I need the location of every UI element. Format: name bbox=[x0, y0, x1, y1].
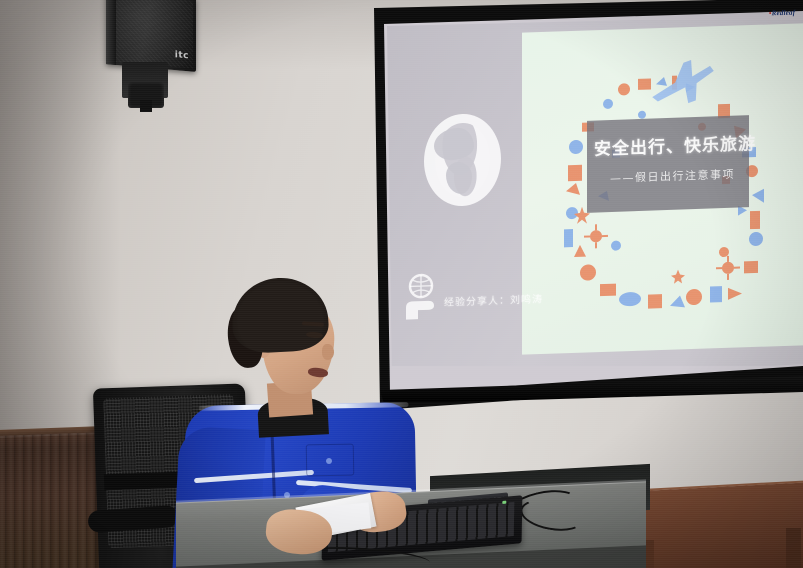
keyboard-led-indicator bbox=[502, 501, 506, 504]
itc-brand-label: itc bbox=[175, 50, 189, 61]
redleaf-logo-text: Redleaf bbox=[771, 9, 795, 18]
side-table-leg bbox=[786, 528, 801, 568]
speaker-mount-stem bbox=[140, 100, 152, 112]
speaker-side-edge bbox=[106, 0, 116, 65]
presenter-nose bbox=[322, 344, 334, 360]
redleaf-brand-logo: •Redleaf bbox=[769, 9, 795, 18]
conference-room-photo: itc bbox=[0, 0, 803, 568]
presenter-hair bbox=[230, 276, 330, 355]
projected-slide: 安全出行、快乐旅游 ——假日出行注意事项 经验分享人：刘鸣涛 bbox=[382, 20, 803, 366]
